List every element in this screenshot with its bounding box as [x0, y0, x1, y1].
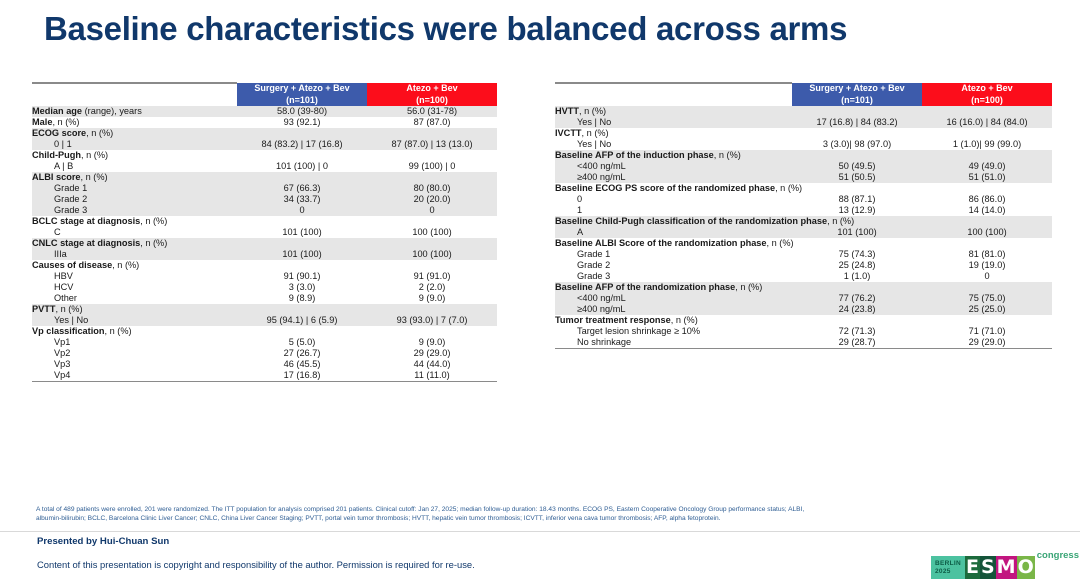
- table-row: Vp15 (5.0)9 (9.0): [32, 337, 497, 348]
- row-value-arm2: [367, 172, 497, 183]
- table-row: IIIa101 (100)100 (100): [32, 249, 497, 260]
- row-label: Grade 2: [32, 194, 237, 205]
- logo-congress-word: congress: [1037, 551, 1079, 561]
- row-value-arm1: 29 (28.7): [792, 337, 922, 349]
- table-row: Grade 225 (24.8)19 (19.0): [555, 260, 1052, 271]
- header-arm1-label: Surgery + Atezo + Bev: [254, 83, 349, 93]
- row-value-arm2: 99 (100) | 0: [367, 161, 497, 172]
- table-row: Yes | No95 (94.1) | 6 (5.9)93 (93.0) | 7…: [32, 315, 497, 326]
- table-row: PVTT, n (%): [32, 304, 497, 315]
- row-value-arm2: [367, 238, 497, 249]
- row-value-arm2: 80 (80.0): [367, 183, 497, 194]
- table-row: IVCTT, n (%): [555, 128, 1052, 139]
- table-row: Baseline Child-Pugh classification of th…: [555, 216, 1052, 227]
- row-value-arm1: 25 (24.8): [792, 260, 922, 271]
- row-label-bold: HVTT: [555, 106, 579, 116]
- row-label: Vp3: [32, 359, 237, 370]
- row-value-arm2: 86 (86.0): [922, 194, 1052, 205]
- row-label-bold: ECOG score: [32, 128, 86, 138]
- row-label-bold: Baseline AFP of the randomization phase: [555, 282, 735, 292]
- row-label-bold: PVTT: [32, 304, 55, 314]
- row-value-arm2: [367, 128, 497, 139]
- row-value-arm2: 11 (11.0): [367, 370, 497, 382]
- row-label: Vp4: [32, 370, 237, 382]
- row-label: Baseline Child-Pugh classification of th…: [555, 216, 792, 227]
- table-row: CNLC stage at diagnosis, n (%): [32, 238, 497, 249]
- row-value-arm2: 20 (20.0): [367, 194, 497, 205]
- table-row: ECOG score, n (%): [32, 128, 497, 139]
- table-row: Grade 167 (66.3)80 (80.0): [32, 183, 497, 194]
- header-arm2-label: Atezo + Bev: [961, 83, 1012, 93]
- row-value-arm2: 91 (91.0): [367, 271, 497, 282]
- row-label-bold: BCLC stage at diagnosis: [32, 216, 140, 226]
- row-value-arm1: 101 (100): [792, 227, 922, 238]
- row-value-arm2: 100 (100): [367, 249, 497, 260]
- table-row: C101 (100)100 (100): [32, 227, 497, 238]
- row-label-bold: Tumor treatment response: [555, 315, 671, 325]
- row-value-arm1: [792, 183, 922, 194]
- row-label: ≥400 ng/mL: [555, 172, 792, 183]
- row-value-arm1: 101 (100): [237, 227, 367, 238]
- table-row: Yes | No17 (16.8) | 84 (83.2)16 (16.0) |…: [555, 117, 1052, 128]
- row-label: Grade 3: [32, 205, 237, 216]
- table-row: Vp417 (16.8)11 (11.0): [32, 370, 497, 382]
- row-value-arm2: 81 (81.0): [922, 249, 1052, 260]
- row-value-arm2: 0: [922, 271, 1052, 282]
- left-table-body: Median age (range), years58.0 (39-80)56.…: [32, 106, 497, 382]
- table-row: ALBI score, n (%): [32, 172, 497, 183]
- table-row: Causes of disease, n (%): [32, 260, 497, 271]
- row-label-bold: Baseline Child-Pugh classification of th…: [555, 216, 827, 226]
- row-value-arm2: 71 (71.0): [922, 326, 1052, 337]
- table-row: A | B101 (100) | 099 (100) | 0: [32, 161, 497, 172]
- row-value-arm1: [792, 106, 922, 117]
- row-value-arm1: 77 (76.2): [792, 293, 922, 304]
- row-value-arm1: 34 (33.7): [237, 194, 367, 205]
- row-value-arm1: 24 (23.8): [792, 304, 922, 315]
- row-value-arm1: 50 (49.5): [792, 161, 922, 172]
- row-value-arm2: 9 (9.0): [367, 293, 497, 304]
- table-row: HVTT, n (%): [555, 106, 1052, 117]
- table-row: Vp227 (26.7)29 (29.0): [32, 348, 497, 359]
- row-label: Other: [32, 293, 237, 304]
- row-value-arm1: 3 (3.0): [237, 282, 367, 293]
- table-row: Vp classification, n (%): [32, 326, 497, 337]
- row-label: Grade 1: [32, 183, 237, 194]
- row-label: Yes | No: [32, 315, 237, 326]
- row-value-arm2: 9 (9.0): [367, 337, 497, 348]
- table-row: Tumor treatment response, n (%): [555, 315, 1052, 326]
- row-value-arm2: 1 (1.0)| 99 (99.0): [922, 139, 1052, 150]
- table-row: ≥400 ng/mL51 (50.5)51 (51.0): [555, 172, 1052, 183]
- row-label-bold: Vp classification: [32, 326, 105, 336]
- table-row: Baseline ALBI Score of the randomization…: [555, 238, 1052, 249]
- row-value-arm1: 9 (8.9): [237, 293, 367, 304]
- row-label: 1: [555, 205, 792, 216]
- row-label: Child-Pugh, n (%): [32, 150, 237, 161]
- table-row: 088 (87.1)86 (86.0): [555, 194, 1052, 205]
- row-label: BCLC stage at diagnosis, n (%): [32, 216, 237, 227]
- header-arm1-label: Surgery + Atezo + Bev: [809, 83, 904, 93]
- row-value-arm1: 5 (5.0): [237, 337, 367, 348]
- table-row: Baseline AFP of the induction phase, n (…: [555, 150, 1052, 161]
- row-value-arm1: [237, 150, 367, 161]
- row-label: <400 ng/mL: [555, 293, 792, 304]
- table-row: Median age (range), years58.0 (39-80)56.…: [32, 106, 497, 117]
- row-label: IIIa: [32, 249, 237, 260]
- row-value-arm2: 25 (25.0): [922, 304, 1052, 315]
- table-row: Child-Pugh, n (%): [32, 150, 497, 161]
- row-value-arm2: [922, 128, 1052, 139]
- table-row: 113 (12.9)14 (14.0): [555, 205, 1052, 216]
- row-label-bold: Male: [32, 117, 52, 127]
- row-label: Baseline ALBI Score of the randomization…: [555, 238, 792, 249]
- row-label: HCV: [32, 282, 237, 293]
- row-value-arm2: [922, 106, 1052, 117]
- right-table-body: HVTT, n (%)Yes | No17 (16.8) | 84 (83.2)…: [555, 106, 1052, 349]
- row-label-bold: Baseline ECOG PS score of the randomized…: [555, 183, 775, 193]
- table-row: Grade 300: [32, 205, 497, 216]
- row-value-arm2: 2 (2.0): [367, 282, 497, 293]
- table-row: Baseline AFP of the randomization phase,…: [555, 282, 1052, 293]
- row-label: 0 | 1: [32, 139, 237, 150]
- row-value-arm1: [792, 282, 922, 293]
- row-label-bold: CNLC stage at diagnosis: [32, 238, 140, 248]
- table-row: Male, n (%)93 (92.1)87 (87.0): [32, 117, 497, 128]
- row-value-arm1: 0: [237, 205, 367, 216]
- row-value-arm1: 1 (1.0): [792, 271, 922, 282]
- row-value-arm2: 75 (75.0): [922, 293, 1052, 304]
- row-value-arm1: [792, 315, 922, 326]
- slide-root: Baseline characteristics were balanced a…: [0, 0, 1080, 586]
- table-row: Grade 31 (1.0)0: [555, 271, 1052, 282]
- logo-letter-o: O: [1017, 556, 1035, 579]
- row-value-arm1: [792, 128, 922, 139]
- row-value-arm2: 29 (29.0): [922, 337, 1052, 349]
- row-label: 0: [555, 194, 792, 205]
- esmo-congress-logo: BERLIN 2025 E S M O congress: [931, 551, 1079, 579]
- header-arm2-cell: Atezo + Bev (n=100): [367, 83, 497, 106]
- row-value-arm2: [367, 304, 497, 315]
- row-label: Tumor treatment response, n (%): [555, 315, 792, 326]
- copyright-notice: Content of this presentation is copyrigh…: [37, 559, 475, 570]
- table-header-row: Surgery + Atezo + Bev (n=101) Atezo + Be…: [555, 83, 1052, 106]
- row-label: Male, n (%): [32, 117, 237, 128]
- table-row: <400 ng/mL50 (49.5)49 (49.0): [555, 161, 1052, 172]
- row-value-arm2: [922, 150, 1052, 161]
- logo-esmo-letters: E S M O: [965, 556, 1035, 579]
- row-label-bold: Child-Pugh: [32, 150, 81, 160]
- left-characteristics-table: Surgery + Atezo + Bev (n=101) Atezo + Be…: [32, 82, 497, 382]
- right-characteristics-table: Surgery + Atezo + Bev (n=101) Atezo + Be…: [555, 82, 1052, 349]
- left-characteristics-table-wrapper: Surgery + Atezo + Bev (n=101) Atezo + Be…: [32, 82, 497, 382]
- row-value-arm1: [237, 304, 367, 315]
- row-label: Vp classification, n (%): [32, 326, 237, 337]
- table-row: HCV3 (3.0)2 (2.0): [32, 282, 497, 293]
- row-value-arm1: 27 (26.7): [237, 348, 367, 359]
- row-value-arm1: 51 (50.5): [792, 172, 922, 183]
- row-value-arm1: 72 (71.3): [792, 326, 922, 337]
- row-value-arm1: 91 (90.1): [237, 271, 367, 282]
- row-label-bold: Causes of disease: [32, 260, 112, 270]
- logo-letter-e: E: [965, 556, 980, 579]
- row-label: Grade 1: [555, 249, 792, 260]
- row-value-arm1: 101 (100) | 0: [237, 161, 367, 172]
- row-value-arm2: 19 (19.0): [922, 260, 1052, 271]
- row-value-arm1: 46 (45.5): [237, 359, 367, 370]
- row-label: PVTT, n (%): [32, 304, 237, 315]
- row-label: ≥400 ng/mL: [555, 304, 792, 315]
- row-value-arm2: [922, 183, 1052, 194]
- table-header-row: Surgery + Atezo + Bev (n=101) Atezo + Be…: [32, 83, 497, 106]
- header-arm1-n: (n=101): [286, 95, 318, 105]
- table-row: A101 (100)100 (100): [555, 227, 1052, 238]
- row-value-arm1: 13 (12.9): [792, 205, 922, 216]
- header-blank-cell: [555, 83, 792, 106]
- row-label-bold: ALBI score: [32, 172, 81, 182]
- row-value-arm2: 93 (93.0) | 7 (7.0): [367, 315, 497, 326]
- table-row: BCLC stage at diagnosis, n (%): [32, 216, 497, 227]
- row-label-bold: Median age: [32, 106, 82, 116]
- row-label: Baseline AFP of the randomization phase,…: [555, 282, 792, 293]
- page-title: Baseline characteristics were balanced a…: [44, 10, 847, 48]
- header-arm2-label: Atezo + Bev: [406, 83, 457, 93]
- row-label: Median age (range), years: [32, 106, 237, 117]
- row-label: Grade 3: [555, 271, 792, 282]
- table-row: Grade 234 (33.7)20 (20.0): [32, 194, 497, 205]
- row-value-arm1: 67 (66.3): [237, 183, 367, 194]
- row-label: Causes of disease, n (%): [32, 260, 237, 271]
- header-arm2-n: (n=100): [416, 95, 448, 105]
- row-value-arm1: [237, 260, 367, 271]
- row-value-arm1: [792, 150, 922, 161]
- row-label: Grade 2: [555, 260, 792, 271]
- row-value-arm2: 100 (100): [367, 227, 497, 238]
- footnote-line-2: albumin-bilirubin; BCLC, Barcelona Clini…: [36, 514, 1048, 523]
- header-arm1-cell: Surgery + Atezo + Bev (n=101): [792, 83, 922, 106]
- row-value-arm2: 49 (49.0): [922, 161, 1052, 172]
- table-row: No shrinkage29 (28.7)29 (29.0): [555, 337, 1052, 349]
- logo-letter-m: M: [996, 556, 1017, 579]
- row-value-arm1: [792, 238, 922, 249]
- table-row: ≥400 ng/mL24 (23.8)25 (25.0): [555, 304, 1052, 315]
- row-value-arm2: 87 (87.0): [367, 117, 497, 128]
- footnote: A total of 489 patients were enrolled, 2…: [36, 505, 1048, 524]
- row-label-bold: Baseline AFP of the induction phase: [555, 150, 714, 160]
- row-label: ALBI score, n (%): [32, 172, 237, 183]
- row-value-arm2: [922, 282, 1052, 293]
- row-label: Yes | No: [555, 117, 792, 128]
- table-row: Target lesion shrinkage ≥ 10%72 (71.3)71…: [555, 326, 1052, 337]
- row-label: No shrinkage: [555, 337, 792, 349]
- row-value-arm1: 95 (94.1) | 6 (5.9): [237, 315, 367, 326]
- row-value-arm2: [367, 216, 497, 227]
- row-value-arm2: [922, 216, 1052, 227]
- row-value-arm2: 51 (51.0): [922, 172, 1052, 183]
- row-label-bold: IVCTT: [555, 128, 582, 138]
- header-blank-cell: [32, 83, 237, 106]
- row-value-arm1: [237, 172, 367, 183]
- row-value-arm1: [237, 216, 367, 227]
- table-row: Other9 (8.9)9 (9.0): [32, 293, 497, 304]
- row-label-bold: Baseline ALBI Score of the randomization…: [555, 238, 767, 248]
- row-label: <400 ng/mL: [555, 161, 792, 172]
- row-label: Yes | No: [555, 139, 792, 150]
- table-row: Vp346 (45.5)44 (44.0): [32, 359, 497, 370]
- row-value-arm1: [237, 326, 367, 337]
- tables-container: Surgery + Atezo + Bev (n=101) Atezo + Be…: [32, 82, 1052, 382]
- row-value-arm2: 29 (29.0): [367, 348, 497, 359]
- row-value-arm2: [367, 150, 497, 161]
- row-value-arm1: 75 (74.3): [792, 249, 922, 260]
- row-value-arm1: [237, 238, 367, 249]
- row-label: IVCTT, n (%): [555, 128, 792, 139]
- row-label: Vp2: [32, 348, 237, 359]
- footnote-line-1: A total of 489 patients were enrolled, 2…: [36, 505, 1048, 514]
- header-arm2-n: (n=100): [971, 95, 1003, 105]
- row-value-arm2: 14 (14.0): [922, 205, 1052, 216]
- table-row: <400 ng/mL77 (76.2)75 (75.0): [555, 293, 1052, 304]
- row-label: C: [32, 227, 237, 238]
- row-label: Vp1: [32, 337, 237, 348]
- row-value-arm2: 100 (100): [922, 227, 1052, 238]
- table-row: Yes | No3 (3.0)| 98 (97.0)1 (1.0)| 99 (9…: [555, 139, 1052, 150]
- row-value-arm1: 17 (16.8) | 84 (83.2): [792, 117, 922, 128]
- row-value-arm1: [237, 128, 367, 139]
- row-label: Target lesion shrinkage ≥ 10%: [555, 326, 792, 337]
- row-label: HVTT, n (%): [555, 106, 792, 117]
- row-label: A: [555, 227, 792, 238]
- row-label: ECOG score, n (%): [32, 128, 237, 139]
- right-characteristics-table-wrapper: Surgery + Atezo + Bev (n=101) Atezo + Be…: [555, 82, 1052, 382]
- logo-year: 2025: [935, 568, 961, 575]
- row-label: A | B: [32, 161, 237, 172]
- row-value-arm1: 17 (16.8): [237, 370, 367, 382]
- row-label: Baseline ECOG PS score of the randomized…: [555, 183, 792, 194]
- row-value-arm1: 58.0 (39-80): [237, 106, 367, 117]
- header-arm1-n: (n=101): [841, 95, 873, 105]
- row-value-arm2: 44 (44.0): [367, 359, 497, 370]
- row-value-arm2: 56.0 (31-78): [367, 106, 497, 117]
- presented-by: Presented by Hui-Chuan Sun: [37, 536, 169, 547]
- row-value-arm2: 0: [367, 205, 497, 216]
- footer-divider: [0, 531, 1080, 532]
- row-value-arm1: 101 (100): [237, 249, 367, 260]
- row-label: HBV: [32, 271, 237, 282]
- row-value-arm2: 16 (16.0) | 84 (84.0): [922, 117, 1052, 128]
- header-arm1-cell: Surgery + Atezo + Bev (n=101): [237, 83, 367, 106]
- row-value-arm1: 84 (83.2) | 17 (16.8): [237, 139, 367, 150]
- row-value-arm1: 93 (92.1): [237, 117, 367, 128]
- table-row: HBV91 (90.1)91 (91.0): [32, 271, 497, 282]
- logo-letter-s: S: [980, 556, 996, 579]
- row-value-arm1: 88 (87.1): [792, 194, 922, 205]
- table-row: Baseline ECOG PS score of the randomized…: [555, 183, 1052, 194]
- row-value-arm2: [367, 260, 497, 271]
- row-value-arm2: [922, 315, 1052, 326]
- header-arm2-cell: Atezo + Bev (n=100): [922, 83, 1052, 106]
- row-value-arm2: [367, 326, 497, 337]
- row-value-arm2: [922, 238, 1052, 249]
- logo-city-year-badge: BERLIN 2025: [931, 556, 965, 579]
- row-label: CNLC stage at diagnosis, n (%): [32, 238, 237, 249]
- table-row: Grade 175 (74.3)81 (81.0): [555, 249, 1052, 260]
- row-value-arm2: 87 (87.0) | 13 (13.0): [367, 139, 497, 150]
- table-row: 0 | 184 (83.2) | 17 (16.8)87 (87.0) | 13…: [32, 139, 497, 150]
- row-label: Baseline AFP of the induction phase, n (…: [555, 150, 792, 161]
- row-value-arm1: 3 (3.0)| 98 (97.0): [792, 139, 922, 150]
- logo-city: BERLIN: [935, 560, 961, 567]
